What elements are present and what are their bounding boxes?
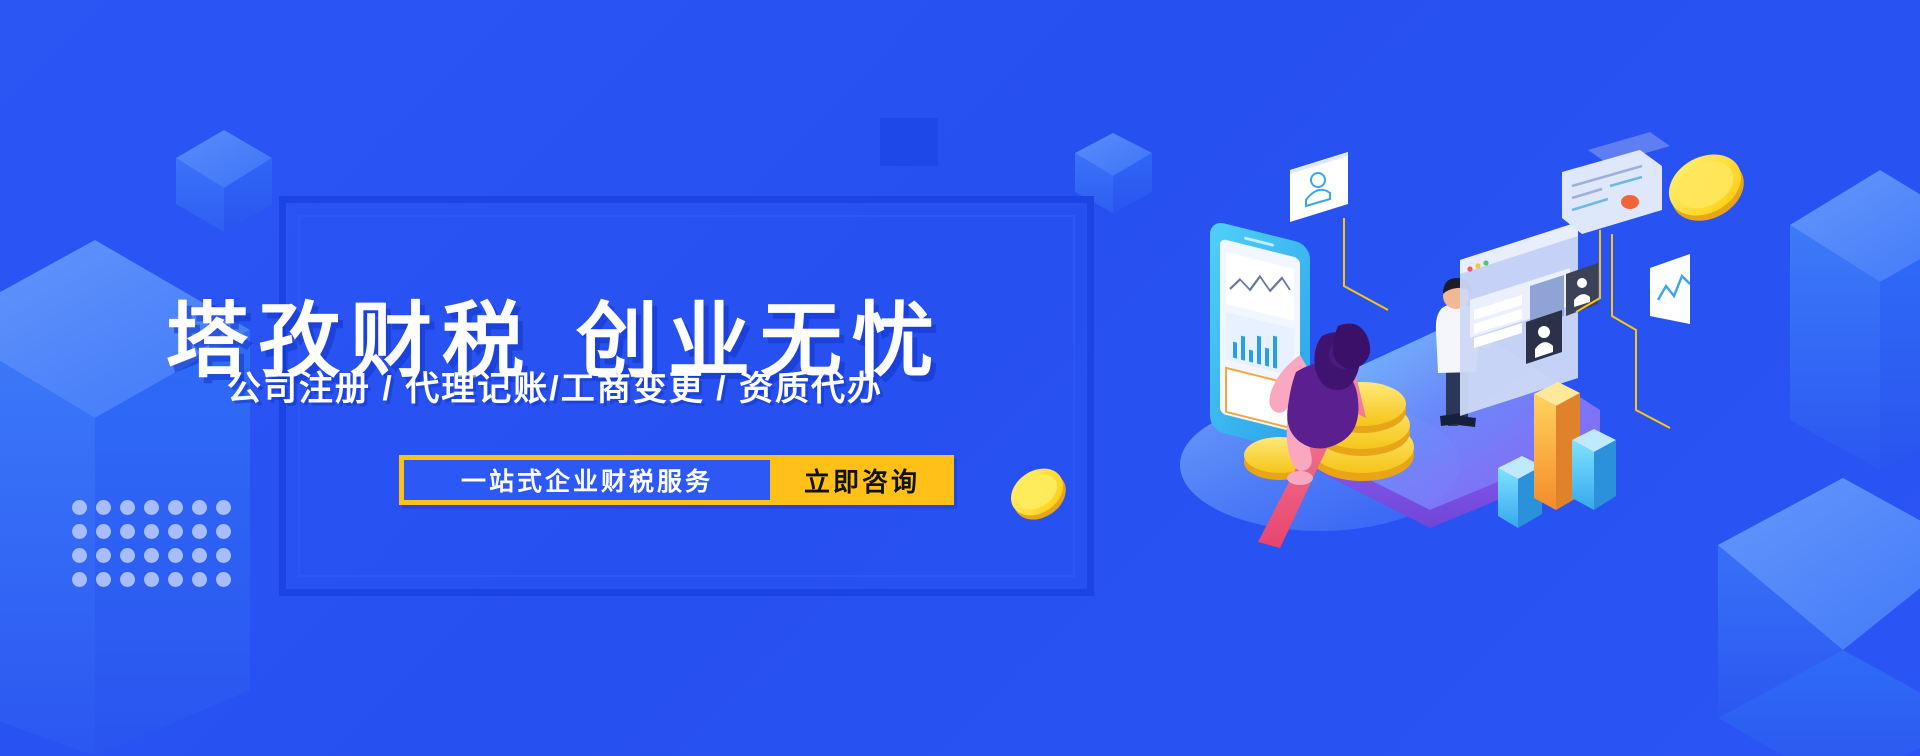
cta-row: 一站式企业财税服务 立即咨询 bbox=[399, 455, 954, 505]
credit-card bbox=[1562, 132, 1670, 234]
promo-banner: 塔孜财税创业无忧 公司注册 / 代理记账/工商变更 / 资质代办 一站式企业财税… bbox=[0, 0, 1920, 756]
services-subtitle: 公司注册 / 代理记账/工商变更 / 资质代办 bbox=[0, 372, 1110, 406]
tall-prism-icon bbox=[1790, 170, 1920, 470]
profile-card bbox=[1290, 152, 1348, 222]
isometric-finance-illustration bbox=[1130, 110, 1690, 550]
dot-grid-icon bbox=[72, 500, 240, 596]
cube-icon bbox=[1718, 448, 1920, 756]
consult-now-button[interactable]: 立即咨询 bbox=[770, 455, 954, 505]
browser-window-card bbox=[1460, 222, 1598, 416]
line-chart-card bbox=[1650, 254, 1690, 324]
decor-rect bbox=[880, 118, 938, 166]
tagline-badge: 一站式企业财税服务 bbox=[404, 460, 770, 500]
